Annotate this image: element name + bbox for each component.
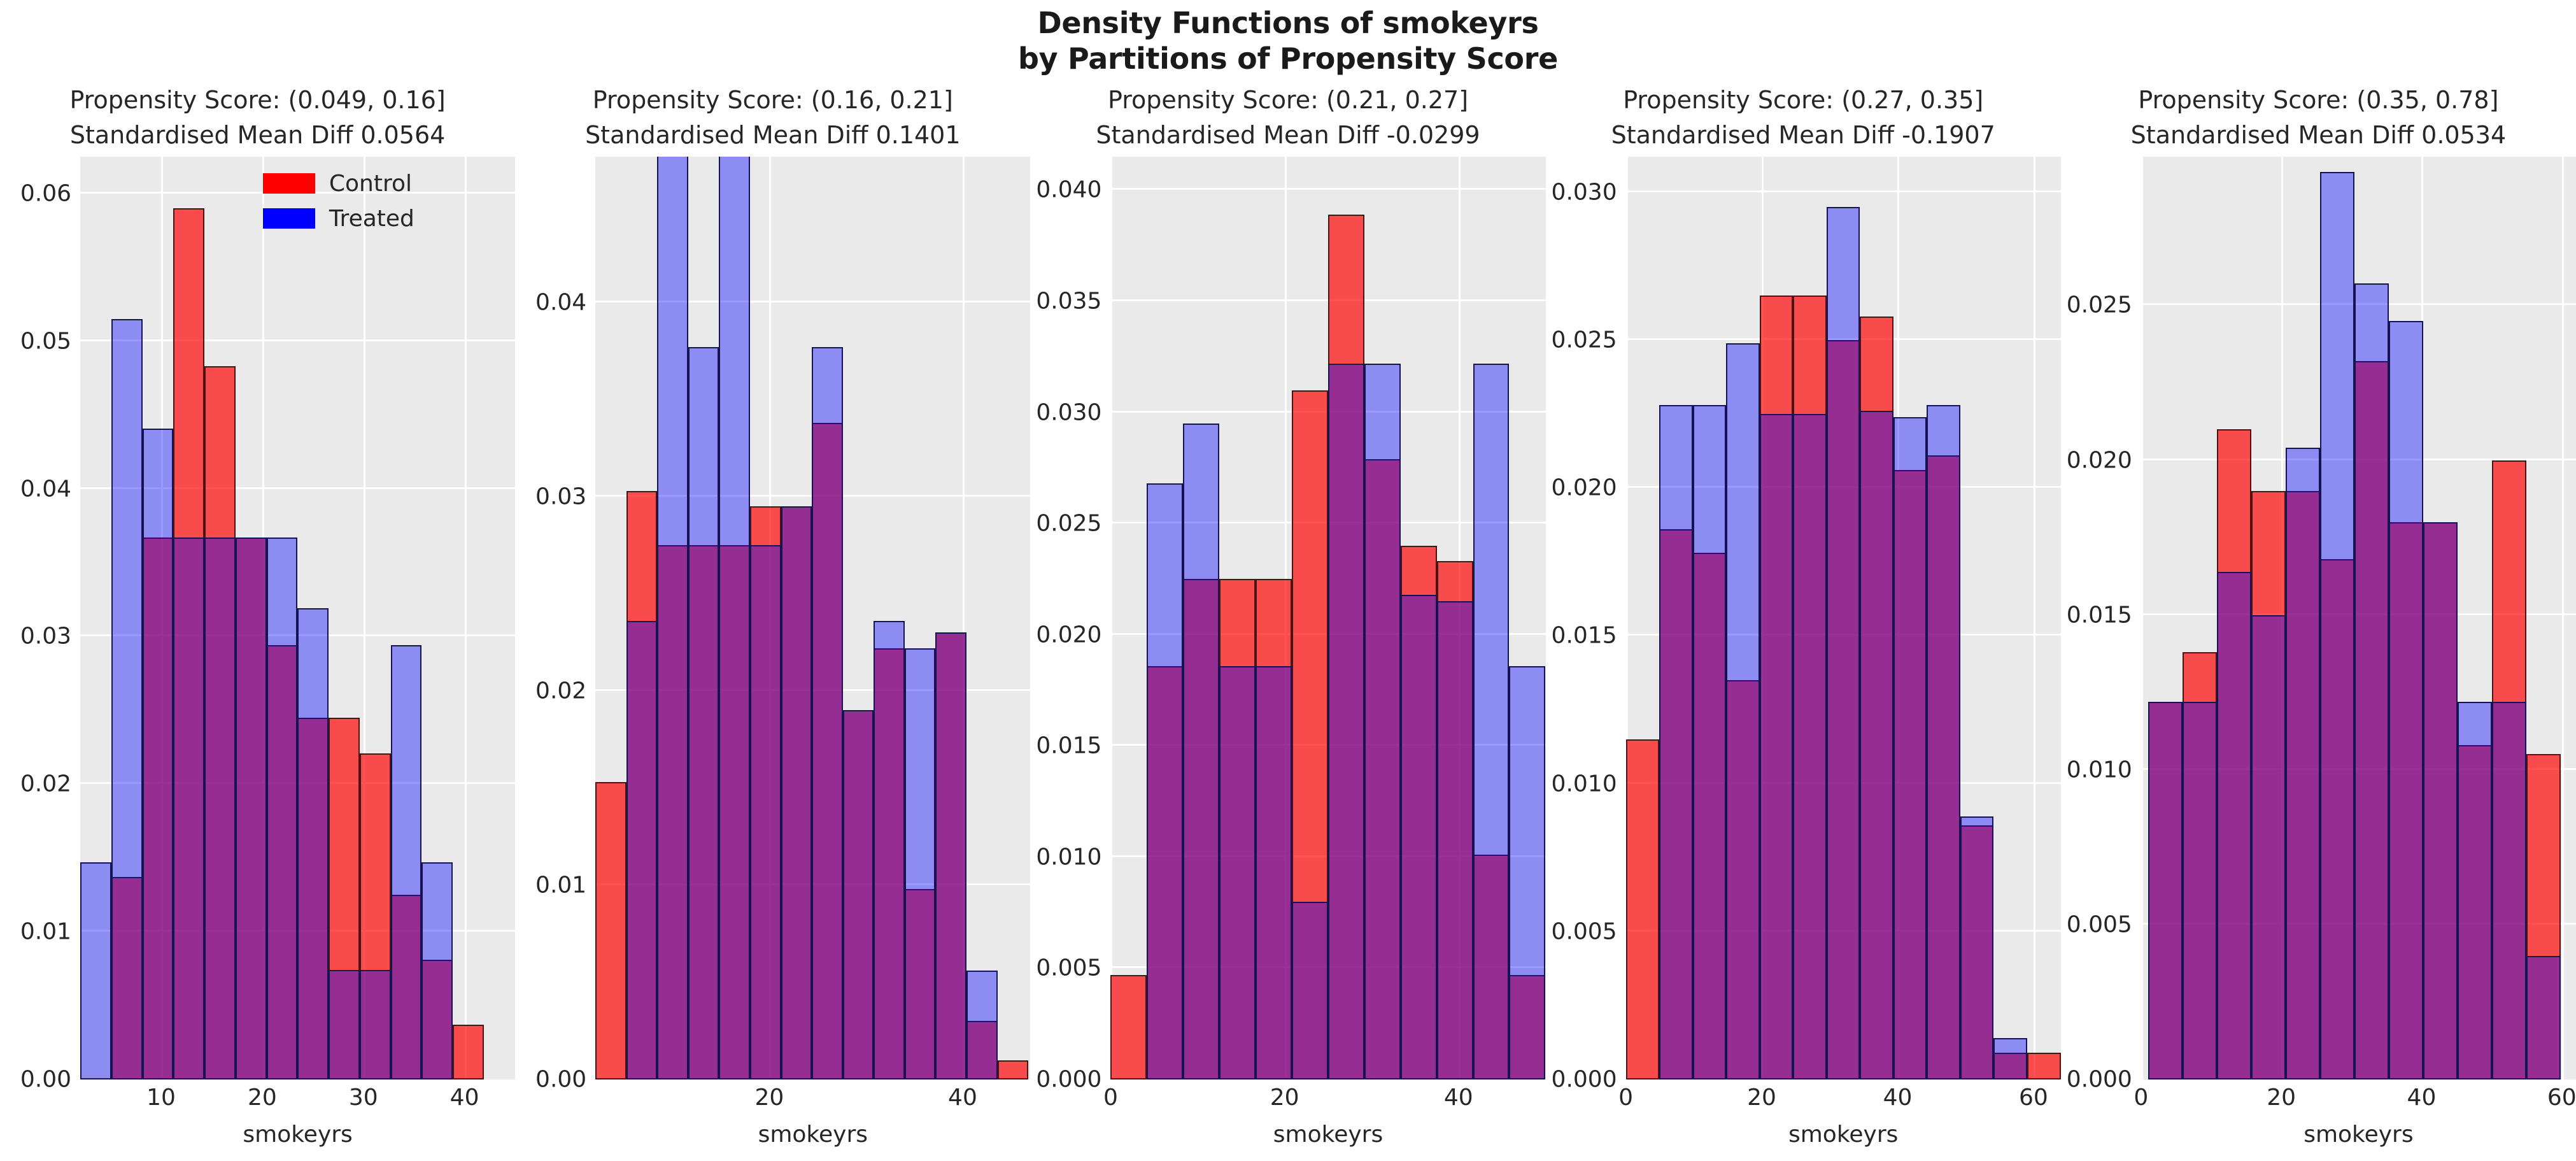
gridline-vertical [1110,157,1112,1079]
histogram-bar-treated [2183,702,2217,1079]
plot-area-2 [595,157,1030,1079]
axes-col: 0204060 [1626,157,2061,1122]
x-tick-label: 40 [1883,1085,1913,1111]
histogram-bar-treated [843,710,874,1079]
histogram-bar-treated [297,608,329,1079]
histogram-bar-treated [2389,321,2423,1079]
panel-4: Propensity Score: (0.27, 0.35] Standardi… [1546,82,2061,1161]
histogram-bar-treated [2148,702,2183,1079]
plot-area-3 [1110,157,1545,1079]
legend-item-control[interactable]: Control [263,171,414,197]
y-tick-label: 0.02 [535,678,586,704]
gridline-horizontal [1626,190,2061,192]
histogram-bar-treated [1147,483,1183,1079]
histogram-bar-treated [1219,666,1256,1079]
histogram-bar-treated [1292,902,1328,1079]
histogram-bar-treated [360,970,391,1079]
panel-title-2: Propensity Score: (0.16, 0.21] Standardi… [515,82,1030,157]
legend-label: Control [329,171,412,197]
gridline-vertical [465,157,467,1079]
legend-swatch-control [263,173,315,194]
axes-col: 2040 [595,157,1030,1122]
x-axis-label-2: smokeyrs [515,1122,1030,1161]
y-tick-label: 0.06 [20,180,71,206]
y-tick-label: 0.015 [1552,623,1617,649]
axes-col: ControlTreated10203040 [80,157,515,1122]
x-tick-label: 40 [2407,1085,2437,1111]
histogram-bar-control [2027,1053,2061,1079]
panel-title-1: Propensity Score: (0.049, 0.16] Standard… [0,82,515,157]
y-tick-label: 0.020 [1036,622,1101,648]
histogram-bar-treated [1860,411,1893,1079]
panel-title-4: Propensity Score: (0.27, 0.35] Standardi… [1546,82,2061,157]
y-tick-label: 0.01 [535,872,586,898]
histogram-bar-treated [812,347,843,1079]
legend-swatch-treated [263,208,315,229]
y-tick-label: 0.015 [1036,733,1101,759]
histogram-bar-treated [2217,572,2251,1079]
y-tick-label: 0.03 [535,483,586,509]
histogram-bar-treated [2286,448,2320,1079]
y-tick-label: 0.035 [1036,288,1101,314]
plot-row: 0.000.010.020.030.042040 [515,157,1030,1122]
axes-col: 02040 [1110,157,1545,1122]
figure-title: Density Functions of smokeyrs by Partiti… [0,5,2576,76]
x-tick-label: 40 [450,1085,479,1111]
histogram-bar-treated [874,621,905,1079]
x-tick-label: 40 [948,1085,977,1111]
histogram-bar-treated [2526,956,2561,1079]
panel-title-5: Propensity Score: (0.35, 0.78] Standardi… [2061,82,2576,157]
histogram-bar-treated [750,545,781,1079]
histogram-bar-treated [1328,364,1364,1079]
gridline-horizontal [80,339,515,341]
y-tick-label: 0.01 [20,919,71,945]
x-axis-label-1: smokeyrs [0,1122,515,1161]
y-tick-label: 0.04 [535,289,586,315]
y-tick-label: 0.00 [20,1067,71,1093]
histogram-bar-treated [1364,364,1401,1079]
histogram-bar-treated [2423,522,2458,1079]
histogram-bar-treated [111,319,143,1079]
histogram-bar-treated [2354,283,2389,1079]
histogram-bar-treated [143,429,174,1079]
histogram-bar-treated [2492,702,2526,1079]
x-axis-5: 0204060 [2141,1079,2576,1122]
y-tick-label: 0.000 [1552,1067,1617,1093]
figure-root: Density Functions of smokeyrs by Partiti… [0,0,2576,1161]
histogram-bar-treated [1993,1038,2027,1079]
x-axis-label-4: smokeyrs [1546,1122,2061,1161]
panel-grid: Propensity Score: (0.049, 0.16] Standard… [0,82,2576,1161]
histogram-bar-treated [2320,172,2354,1079]
y-tick-label: 0.05 [20,328,71,354]
histogram-bar-treated [267,538,298,1079]
histogram-bar-treated [1927,405,1960,1079]
y-tick-label: 0.025 [2067,292,2132,318]
histogram-bar-treated [657,157,688,1079]
histogram-bar-treated [905,648,936,1079]
y-tick-label: 0.020 [2067,447,2132,473]
histogram-bar-treated [1659,405,1693,1079]
panel-3: Propensity Score: (0.21, 0.27] Standardi… [1030,82,1545,1161]
x-tick-label: 60 [2547,1085,2576,1111]
histogram-bar-treated [391,645,422,1079]
histogram-bar-treated [1827,207,1860,1079]
y-tick-label: 0.010 [2067,757,2132,783]
y-axis-4: 0.0000.0050.0100.0150.0200.0250.030 [1546,157,1626,1122]
histogram-bar-treated [966,971,998,1079]
y-tick-label: 0.010 [1552,771,1617,797]
histogram-bar-control [1626,739,1660,1079]
histogram-bar-treated [1793,414,1827,1079]
legend-label: Treated [329,206,414,232]
histogram-bar-treated [781,506,812,1079]
x-tick-label: 20 [2267,1085,2296,1111]
y-tick-label: 0.010 [1036,844,1101,870]
x-tick-label: 20 [754,1085,784,1111]
gridline-vertical [2034,157,2035,1079]
x-tick-label: 10 [146,1085,176,1111]
histogram-bar-treated [173,538,204,1079]
axes-col: 0204060 [2141,157,2576,1122]
x-tick-label: 20 [248,1085,277,1111]
plot-row: 0.000.010.020.030.040.050.06ControlTreat… [0,157,515,1122]
panel-1: Propensity Score: (0.049, 0.16] Standard… [0,82,515,1161]
x-tick-label: 40 [1444,1085,1473,1111]
x-axis-4: 0204060 [1626,1079,2061,1122]
y-tick-label: 0.000 [1036,1067,1101,1093]
histogram-bar-treated [719,157,750,1079]
histogram-bar-treated [626,621,658,1079]
y-tick-label: 0.005 [1036,955,1101,981]
histogram-bar-treated [688,347,719,1079]
x-tick-label: 20 [1747,1085,1776,1111]
histogram-bar-control [1110,975,1147,1079]
y-tick-label: 0.025 [1552,327,1617,353]
histogram-bar-control [595,782,626,1079]
y-axis-3: 0.0000.0050.0100.0150.0200.0250.0300.035… [1030,157,1110,1122]
panel-5: Propensity Score: (0.35, 0.78] Standardi… [2061,82,2576,1161]
y-axis-1: 0.000.010.020.030.040.050.06 [0,157,80,1122]
x-axis-3: 02040 [1110,1079,1545,1122]
y-tick-label: 0.040 [1036,177,1101,203]
plot-row: 0.0000.0050.0100.0150.0200.0250.0300.035… [1030,157,1545,1122]
histogram-bar-treated [1473,364,1510,1079]
histogram-bar-treated [80,862,111,1079]
histogram-bar-treated [1726,343,1760,1079]
x-axis-2: 2040 [595,1079,1030,1122]
histogram-bar-treated [1893,417,1927,1079]
y-tick-label: 0.04 [20,476,71,502]
legend-item-treated[interactable]: Treated [263,206,414,232]
plot-area-1: ControlTreated [80,157,515,1079]
histogram-bar-treated [329,970,360,1079]
y-tick-label: 0.02 [20,771,71,797]
histogram-bar-treated [1760,414,1794,1079]
y-tick-label: 0.00 [535,1067,586,1093]
histogram-bar-treated [1401,595,1437,1079]
x-tick-label: 60 [2019,1085,2048,1111]
y-tick-label: 0.03 [20,623,71,650]
y-tick-label: 0.000 [2067,1067,2132,1093]
x-tick-label: 0 [1618,1085,1633,1111]
y-tick-label: 0.005 [1552,918,1617,944]
histogram-bar-treated [2251,615,2286,1079]
histogram-bar-control [453,1025,484,1079]
histogram-bar-treated [2458,702,2492,1079]
histogram-bar-treated [1509,666,1545,1079]
histogram-bar-treated [421,862,453,1079]
gridline-horizontal [1110,188,1545,190]
x-tick-label: 30 [349,1085,378,1111]
y-tick-label: 0.030 [1036,399,1101,425]
histogram-bar-control [998,1060,1029,1080]
gridline-vertical [2562,157,2564,1079]
histogram-bar-treated [1437,601,1473,1079]
gridline-vertical [2141,157,2143,1079]
plot-row: 0.0000.0050.0100.0150.0200.0250.03002040… [1546,157,2061,1122]
y-tick-label: 0.005 [2067,911,2132,937]
plot-area-4 [1626,157,2061,1079]
plot-row: 0.0000.0050.0100.0150.0200.0250204060 [2061,157,2576,1122]
histogram-bar-treated [1960,816,1994,1079]
y-tick-label: 0.025 [1036,511,1101,537]
y-axis-2: 0.000.010.020.030.04 [515,157,595,1122]
panel-title-3: Propensity Score: (0.21, 0.27] Standardi… [1030,82,1545,157]
histogram-bar-treated [1693,405,1727,1079]
histogram-bar-treated [1183,424,1219,1079]
y-axis-5: 0.0000.0050.0100.0150.0200.025 [2061,157,2141,1122]
x-tick-label: 0 [2134,1085,2148,1111]
x-tick-label: 0 [1103,1085,1118,1111]
panel-2: Propensity Score: (0.16, 0.21] Standardi… [515,82,1030,1161]
histogram-bar-treated [236,538,267,1079]
histogram-bar-treated [204,538,236,1079]
y-tick-label: 0.030 [1552,179,1617,205]
y-tick-label: 0.015 [2067,602,2132,628]
y-tick-label: 0.020 [1552,475,1617,501]
plot-area-5 [2141,157,2576,1079]
histogram-bar-treated [935,632,966,1079]
x-axis-label-3: smokeyrs [1030,1122,1545,1161]
legend: ControlTreated [263,171,414,232]
histogram-bar-treated [1256,666,1292,1079]
x-axis-label-5: smokeyrs [2061,1122,2576,1161]
x-axis-1: 10203040 [80,1079,515,1122]
x-tick-label: 20 [1270,1085,1299,1111]
